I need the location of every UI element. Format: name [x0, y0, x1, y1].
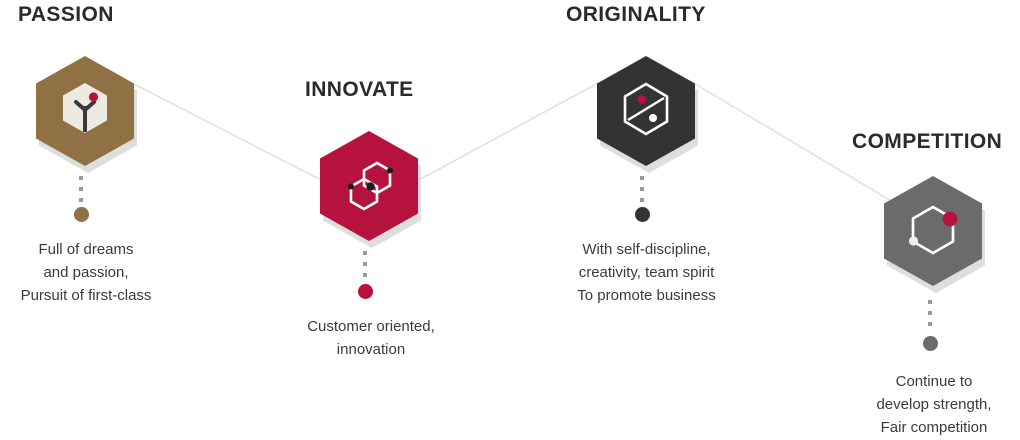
hexagon-badge-competition[interactable]: [884, 176, 982, 286]
bullet-dot-passion: [74, 207, 89, 222]
node-title-passion: PASSION: [18, 4, 114, 25]
stem-dot: [640, 176, 644, 180]
dotted-stem-competition: [928, 300, 933, 333]
bullet-dot-competition: [923, 336, 938, 351]
dotted-stem-originality: [640, 176, 645, 209]
connector-innovate-to-originality: [415, 82, 600, 182]
dotted-stem-passion: [79, 176, 84, 209]
stem-dot: [640, 187, 644, 191]
stem-dot: [928, 322, 932, 326]
split-hex-icon: [597, 56, 695, 166]
dotted-stem-innovate: [363, 251, 368, 284]
values-infographic: PASSIONFull of dreams and passion, Pursu…: [0, 0, 1020, 440]
bullet-dot-originality: [635, 207, 650, 222]
hexagon-badge-passion[interactable]: [36, 56, 134, 166]
node-description-originality: With self-discipline, creativity, team s…: [549, 238, 744, 307]
stem-dot: [363, 251, 367, 255]
node-title-competition: COMPETITION: [852, 131, 1002, 152]
node-competition[interactable]: COMPETITIONContinue to develop strength,…: [0, 0, 1020, 440]
node-title-originality: ORIGINALITY: [566, 4, 706, 25]
sapling-icon: [36, 56, 134, 166]
stem-dot: [928, 300, 932, 304]
node-description-passion: Full of dreams and passion, Pursuit of f…: [0, 238, 172, 307]
node-description-innovate: Customer oriented, innovation: [285, 315, 457, 361]
node-title-innovate: INNOVATE: [305, 79, 414, 100]
stem-dot: [79, 187, 83, 191]
stem-dot: [363, 273, 367, 277]
hex-nodes-icon: [884, 176, 982, 286]
connector-passion-to-innovate: [130, 82, 325, 182]
hexagon-badge-originality[interactable]: [597, 56, 695, 166]
stem-dot: [79, 198, 83, 202]
stem-dot: [928, 311, 932, 315]
stem-dot: [363, 262, 367, 266]
node-description-competition: Continue to develop strength, Fair compe…: [848, 370, 1020, 439]
hexagon-badge-innovate[interactable]: [320, 131, 418, 241]
bullet-dot-innovate: [358, 284, 373, 299]
stem-dot: [640, 198, 644, 202]
molecule-icon: [320, 131, 418, 241]
stem-dot: [79, 176, 83, 180]
